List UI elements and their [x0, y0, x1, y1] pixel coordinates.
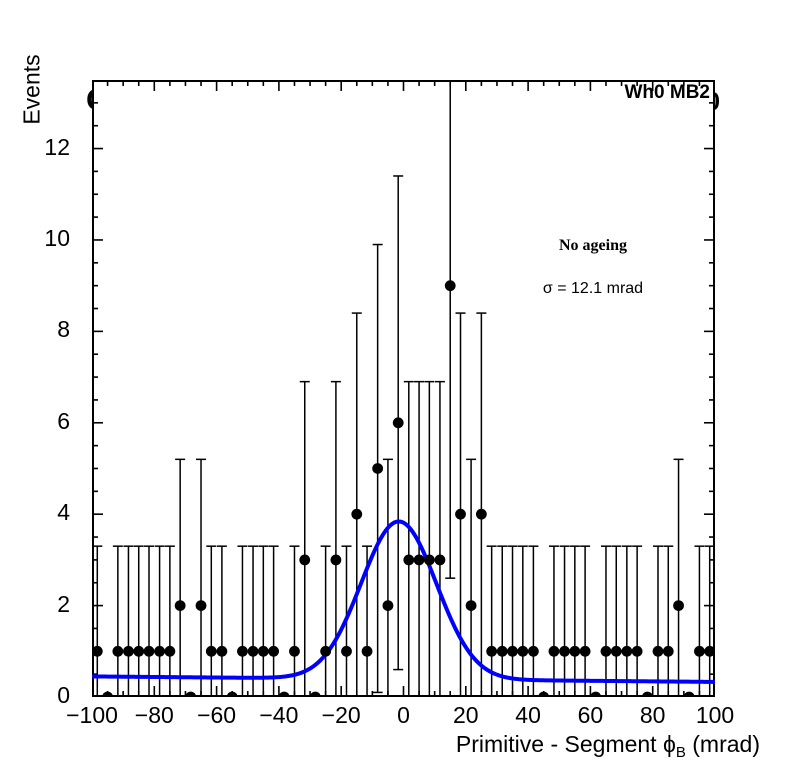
data-point — [507, 646, 518, 657]
data-point — [279, 692, 290, 697]
data-point — [320, 646, 331, 657]
data-point — [144, 646, 155, 657]
data-point — [289, 646, 300, 657]
data-point — [299, 554, 310, 565]
errorbar-layer — [92, 80, 714, 697]
plot-area — [92, 80, 715, 697]
data-point — [310, 692, 321, 697]
data-point — [632, 646, 643, 657]
header-bar: CMS Phase-2 Simulation Preliminary PU 20… — [0, 44, 796, 76]
y-tick-label: 4 — [24, 499, 70, 526]
x-axis-title-subscript: B — [676, 744, 686, 761]
data-point — [175, 600, 186, 611]
x-tick-label: 40 — [493, 702, 563, 729]
data-point — [559, 646, 570, 657]
data-point — [673, 600, 684, 611]
data-point — [351, 509, 362, 520]
x-tick-label: −60 — [182, 702, 252, 729]
data-point — [486, 646, 497, 657]
x-tick-label: 80 — [618, 702, 688, 729]
data-point — [102, 692, 113, 697]
x-tick-label: 60 — [555, 702, 625, 729]
axis-ticks — [92, 80, 715, 697]
x-tick-label: −80 — [119, 702, 189, 729]
x-axis-title-main: Primitive - Segment — [456, 731, 663, 757]
data-point — [268, 646, 279, 657]
data-point — [435, 554, 446, 565]
data-point — [383, 600, 394, 611]
y-tick-label: 8 — [24, 316, 70, 343]
resolution-label: σ = 12.1 mrad — [498, 280, 688, 298]
data-point — [196, 600, 207, 611]
scenario-label: No ageing — [508, 237, 678, 255]
y-tick-label: 12 — [24, 134, 70, 161]
data-point — [601, 646, 612, 657]
data-point — [621, 646, 632, 657]
x-tick-label: −40 — [244, 702, 314, 729]
data-point — [653, 646, 664, 657]
gaussian-fit-curve — [92, 521, 715, 681]
data-point — [185, 692, 196, 697]
data-point — [227, 692, 238, 697]
region-label: Wh0 MB2 — [625, 82, 711, 104]
data-point — [362, 646, 373, 657]
data-point — [642, 692, 653, 697]
data-point — [164, 646, 175, 657]
data-point — [704, 646, 715, 657]
y-tick-label: 2 — [24, 591, 70, 618]
data-point — [133, 646, 144, 657]
data-point — [538, 692, 549, 697]
data-point — [445, 280, 456, 291]
data-point — [528, 646, 539, 657]
y-tick-label: 6 — [24, 408, 70, 435]
data-point — [372, 463, 383, 474]
data-point — [663, 646, 674, 657]
x-tick-label: −20 — [306, 702, 376, 729]
data-point — [549, 646, 560, 657]
data-point — [403, 554, 414, 565]
data-point — [414, 554, 425, 565]
x-tick-label: 20 — [431, 702, 501, 729]
data-point — [694, 646, 705, 657]
data-point — [123, 646, 134, 657]
data-point — [112, 646, 123, 657]
y-tick-label: 10 — [24, 225, 70, 252]
data-point — [258, 646, 269, 657]
data-point — [476, 509, 487, 520]
y-tick-label: 0 — [24, 682, 70, 709]
data-point — [684, 692, 695, 697]
data-point — [466, 600, 477, 611]
data-point — [393, 417, 404, 428]
data-point — [497, 646, 508, 657]
data-point — [341, 646, 352, 657]
data-point — [206, 646, 217, 657]
data-point — [455, 509, 466, 520]
x-axis-title-unit: (mrad) — [686, 731, 760, 757]
data-point — [424, 554, 435, 565]
data-point — [237, 646, 248, 657]
x-tick-label: 0 — [369, 702, 439, 729]
x-tick-label: 100 — [680, 702, 750, 729]
data-point — [590, 692, 601, 697]
x-axis-title-symbol: ϕ — [663, 731, 676, 757]
data-point — [216, 646, 227, 657]
data-point — [580, 646, 591, 657]
x-axis-title: Primitive - Segment ϕB (mrad) — [0, 731, 760, 761]
plot-canvas: CMS Phase-2 Simulation Preliminary PU 20… — [0, 0, 796, 772]
data-point — [154, 646, 165, 657]
data-point — [517, 646, 528, 657]
data-point — [569, 646, 580, 657]
data-point — [331, 554, 342, 565]
data-point-layer — [92, 280, 715, 697]
data-point — [92, 646, 103, 657]
data-point — [248, 646, 259, 657]
data-point — [611, 646, 622, 657]
